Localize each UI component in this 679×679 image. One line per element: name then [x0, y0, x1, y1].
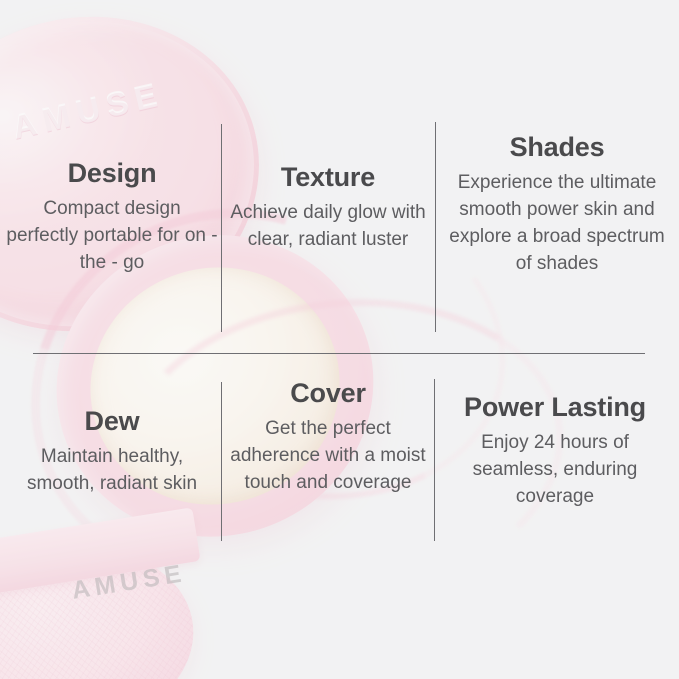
feature-cell-design: Design Compact design perfectly portable… — [6, 158, 218, 277]
infographic-canvas: AMUSE AMUSE Design Compact design perfec… — [0, 0, 679, 679]
feature-cell-shades: Shades Experience the ultimate smooth po… — [440, 132, 674, 278]
feature-grid: Design Compact design perfectly portable… — [0, 0, 679, 679]
feature-title-shades: Shades — [440, 132, 674, 164]
divider-vertical-top-right — [435, 122, 436, 332]
feature-cell-dew: Dew Maintain healthy, smooth, radiant sk… — [6, 406, 218, 498]
feature-body-design: Compact design perfectly portable for on… — [6, 196, 218, 277]
divider-vertical-bottom-left — [221, 382, 222, 541]
divider-vertical-top-left — [221, 124, 222, 332]
feature-body-power-lasting: Enjoy 24 hours of seamless, enduring cov… — [436, 430, 674, 511]
divider-horizontal — [33, 353, 645, 354]
feature-cell-cover: Cover Get the perfect adherence with a m… — [228, 378, 428, 497]
feature-title-dew: Dew — [6, 406, 218, 438]
feature-title-power-lasting: Power Lasting — [436, 392, 674, 424]
feature-cell-power-lasting: Power Lasting Enjoy 24 hours of seamless… — [436, 392, 674, 511]
divider-vertical-bottom-right — [434, 379, 435, 541]
feature-title-design: Design — [6, 158, 218, 190]
feature-body-texture: Achieve daily glow with clear, radiant l… — [228, 200, 428, 254]
feature-title-cover: Cover — [228, 378, 428, 410]
feature-body-cover: Get the perfect adherence with a moist t… — [228, 416, 428, 497]
feature-cell-texture: Texture Achieve daily glow with clear, r… — [228, 162, 428, 254]
feature-title-texture: Texture — [228, 162, 428, 194]
feature-body-shades: Experience the ultimate smooth power ski… — [440, 170, 674, 278]
feature-body-dew: Maintain healthy, smooth, radiant skin — [6, 444, 218, 498]
